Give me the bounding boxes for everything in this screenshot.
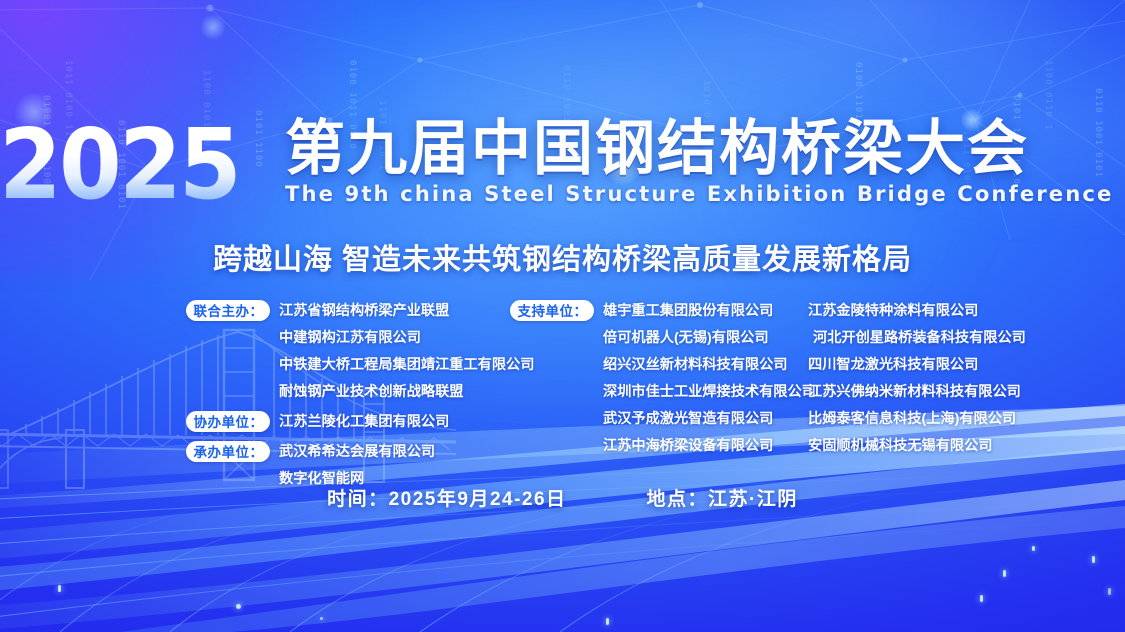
supporter-name: 雄宇重工集团股份有限公司 [603, 300, 773, 323]
organizer-column-right: 江苏金陵特种涂料有限公司 河北开创星路桥装备科技有限公司 四川智龙激光科技有限公… [808, 300, 1026, 462]
support-row: 比姆泰客信息科技(上海)有限公司 [808, 408, 1026, 431]
supporter-name: 江苏金陵特种涂料有限公司 [808, 300, 978, 323]
supporter-name: 绍兴汉丝新材料科技有限公司 [603, 354, 787, 377]
organizer-column-middle: 支持单位： 雄宇重工集团股份有限公司 倍可机器人(无锡)有限公司 绍兴汉丝新材料… [510, 300, 816, 462]
year-2025: 2025 [0, 118, 239, 211]
support-row: 深圳市佳士工业焊接技术有限公司 [510, 381, 816, 404]
footer-info: 时间：2025年9月24-26日 地点：江苏·江阴 [0, 484, 1125, 511]
support-row: 支持单位： 雄宇重工集团股份有限公司 [510, 300, 816, 323]
support-row: 武汉予成激光智造有限公司 [510, 408, 816, 431]
support-row: 倍可机器人(无锡)有限公司 [510, 327, 816, 350]
supporter-name: 河北开创星路桥装备科技有限公司 [808, 327, 1026, 350]
undertake-label: 承办单位： [186, 441, 270, 462]
support-label: 支持单位： [510, 300, 594, 321]
support-row: 江苏兴佛纳米新材料科技有限公司 [808, 381, 1026, 404]
event-location: 地点：江苏·江阴 [647, 484, 798, 511]
support-row: 绍兴汉丝新材料科技有限公司 [510, 354, 816, 377]
supporter-name: 比姆泰客信息科技(上海)有限公司 [808, 408, 1016, 431]
co-host-label: 联合主办： [186, 300, 270, 321]
organizer-column-left: 联合主办： 江苏省钢结构桥梁产业联盟 中建钢构江苏有限公司 中铁建大桥工程局集团… [186, 300, 534, 495]
support-row: 四川智龙激光科技有限公司 [808, 354, 1026, 377]
undertake-row: 承办单位： 武汉希希达会展有限公司 [186, 441, 534, 464]
supporter-name: 倍可机器人(无锡)有限公司 [603, 327, 769, 350]
co-host-row: 中建钢构江苏有限公司 [186, 327, 534, 350]
co-host-row: 中铁建大桥工程局集团靖江重工有限公司 [186, 354, 534, 377]
page-subtitle-english: The 9th china Steel Structure Exhibition… [285, 182, 1113, 207]
organizer-name: 耐蚀钢产业技术创新战略联盟 [279, 381, 463, 404]
co-host-row: 联合主办： 江苏省钢结构桥梁产业联盟 [186, 300, 534, 323]
organizer-name: 江苏兰陵化工集团有限公司 [279, 411, 449, 434]
event-date: 时间：2025年9月24-26日 [327, 484, 566, 511]
organizer-name: 中建钢构江苏有限公司 [279, 327, 421, 350]
organizer-name: 中铁建大桥工程局集团靖江重工有限公司 [279, 354, 534, 377]
support-row: 江苏金陵特种涂料有限公司 [808, 300, 1026, 323]
organizer-name: 江苏省钢结构桥梁产业联盟 [279, 300, 449, 323]
supporter-name: 深圳市佳士工业焊接技术有限公司 [603, 381, 816, 404]
supporter-name: 武汉予成激光智造有限公司 [603, 408, 773, 431]
supporter-name: 江苏中海桥梁设备有限公司 [603, 435, 773, 458]
assist-row: 协办单位： 江苏兰陵化工集团有限公司 [186, 411, 534, 434]
supporter-name: 四川智龙激光科技有限公司 [808, 354, 978, 377]
title-row: 2025 第九届中国钢结构桥梁大会 The 9th china Steel St… [0, 118, 1125, 211]
conference-banner: 01001 0101 1001 1011 0100 11 0110 1001 0… [0, 0, 1125, 632]
support-row: 江苏中海桥梁设备有限公司 [510, 435, 816, 458]
organizers-section: 联合主办： 江苏省钢结构桥梁产业联盟 中建钢构江苏有限公司 中铁建大桥工程局集团… [0, 300, 1125, 450]
supporter-name: 安固顺机械科技无锡有限公司 [808, 435, 992, 458]
support-row: 安固顺机械科技无锡有限公司 [808, 435, 1026, 458]
co-host-row: 耐蚀钢产业技术创新战略联盟 [186, 381, 534, 404]
page-title: 第九届中国钢结构桥梁大会 [285, 118, 1125, 179]
assist-label: 协办单位： [186, 411, 270, 432]
organizer-name: 武汉希希达会展有限公司 [279, 441, 435, 464]
support-row: 河北开创星路桥装备科技有限公司 [808, 327, 1026, 350]
supporter-name: 江苏兴佛纳米新材料科技有限公司 [808, 381, 1021, 404]
slogan: 跨越山海 智造未来共筑钢结构桥梁高质量发展新格局 [0, 236, 1125, 278]
